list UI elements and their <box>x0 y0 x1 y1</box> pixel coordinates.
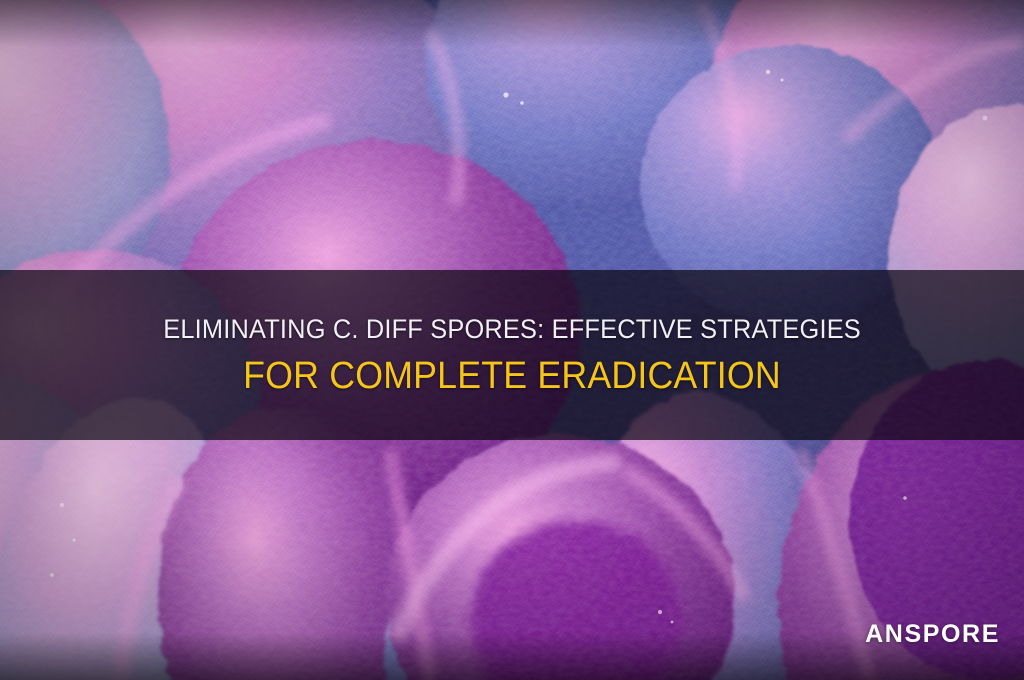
headline-line-2: FOR COMPLETE ERADICATION <box>243 357 781 395</box>
title-overlay-band: ELIMINATING C. DIFF SPORES: EFFECTIVE ST… <box>0 270 1024 440</box>
image-banner: ELIMINATING C. DIFF SPORES: EFFECTIVE ST… <box>0 0 1024 680</box>
brand-watermark: ANSPORE <box>865 622 1000 647</box>
headline-line-1: ELIMINATING C. DIFF SPORES: EFFECTIVE ST… <box>163 316 861 343</box>
